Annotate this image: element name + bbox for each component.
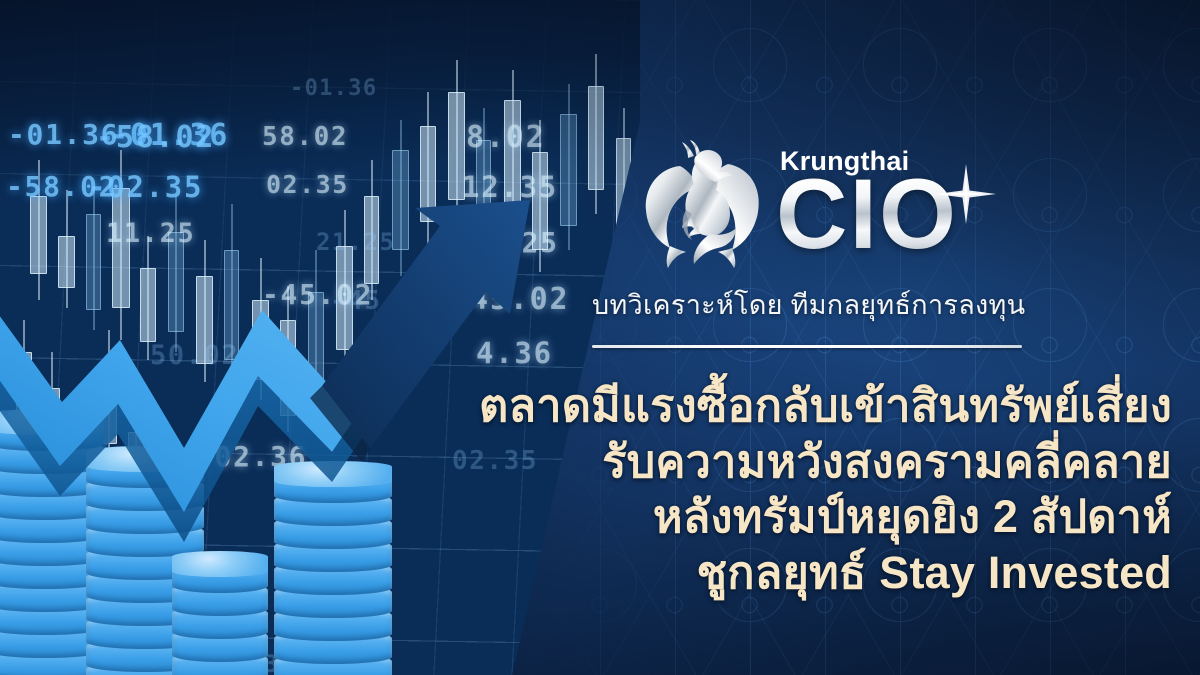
banner-canvas: -01.36-58.02-02.3511.25-45.02-02.368.021… — [0, 0, 1200, 675]
headline-line-2: รับความหวังสงครามคลี่คลาย — [430, 434, 1172, 490]
divider-rule — [592, 345, 1022, 348]
analysis-byline: บทวิเคราะห์โดย ทีมกลยุทธ์การลงทุน — [592, 283, 1062, 326]
headline-block: ตลาดมีแรงซื้อกลับเข้าสินทรัพย์เสี่ยง รับ… — [430, 378, 1186, 600]
headline-line-3: หลังทรัมป์หยุดยิง 2 สัปดาห์ — [430, 489, 1172, 545]
brand-lockup: Krungthai CIO — [636, 140, 976, 270]
cio-wordmark: CIO — [776, 166, 958, 261]
headline-line-1: ตลาดมีแรงซื้อกลับเข้าสินทรัพย์เสี่ยง — [430, 378, 1172, 434]
krungthai-garuda-phoenix-icon — [636, 140, 768, 268]
headline-line-4: ชูกลยุทธ์ Stay Invested — [430, 545, 1172, 601]
